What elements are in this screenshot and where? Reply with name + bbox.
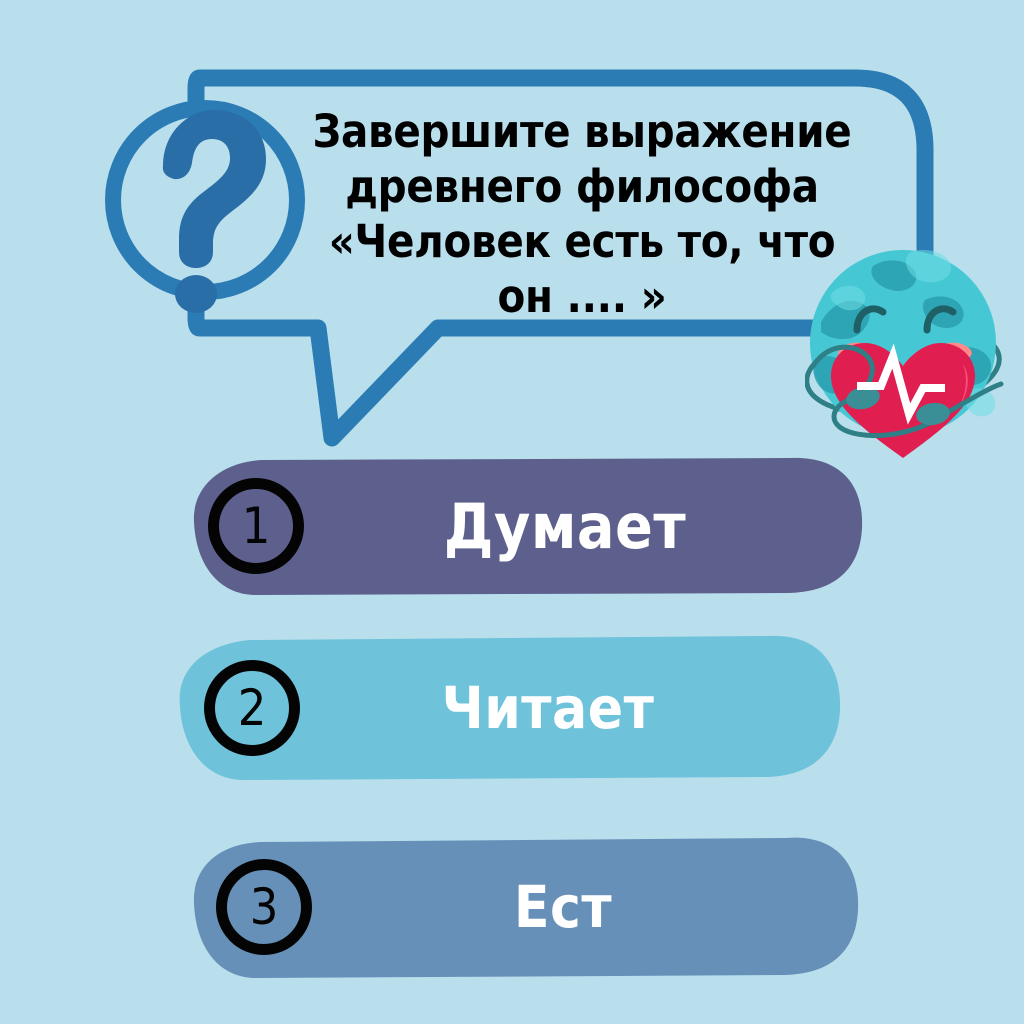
globe-heart-mascot — [805, 238, 1005, 463]
answer-number-text-1: 1 — [242, 501, 271, 551]
answer-option-2[interactable]: 2 Читает — [172, 632, 844, 784]
answer-label-3: Ест — [312, 873, 862, 941]
answer-label-2: Читает — [300, 674, 844, 742]
answer-number-badge-1: 1 — [208, 478, 304, 574]
answer-label-1: Думает — [304, 490, 866, 563]
answer-number-text-2: 2 — [238, 683, 267, 733]
answer-option-3[interactable]: 3 Ест — [186, 832, 862, 982]
answer-number-badge-3: 3 — [216, 859, 312, 955]
quiz-card: Завершите выражение древнего философа «Ч… — [0, 0, 1024, 1024]
answer-number-badge-2: 2 — [204, 660, 300, 756]
answer-number-text-3: 3 — [250, 882, 279, 932]
answer-option-1[interactable]: 1 Думает — [186, 452, 866, 600]
